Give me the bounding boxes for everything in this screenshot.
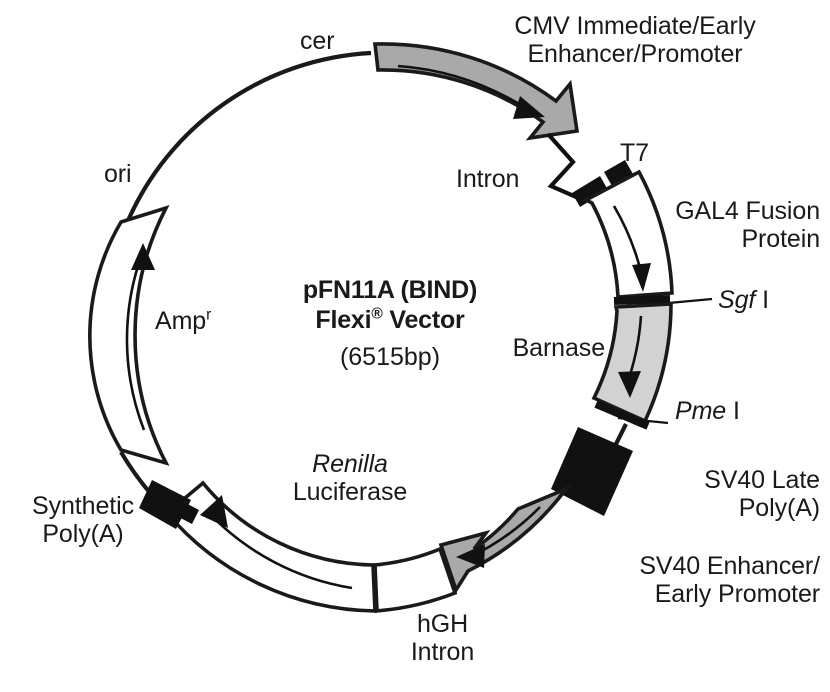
label-cmv-line1: CMV Immediate/Early	[514, 12, 755, 40]
label-sv40-late-polya: SV40 LatePoly(A)	[620, 466, 820, 522]
vector-title-line1: pFN11A (BIND)	[303, 276, 477, 304]
registered-mark-icon: ®	[371, 306, 382, 323]
label-gal4-line1: GAL4 Fusion	[675, 197, 820, 225]
plasmid-map-canvas: CMV Immediate/EarlyEnhancer/Promoter cer…	[0, 0, 830, 692]
label-amp-base: Amp	[155, 307, 206, 335]
label-pmei-roman: I	[726, 397, 740, 425]
label-ori: ori	[104, 160, 131, 188]
label-sv40enh-line1: SV40 Enhancer/	[639, 552, 820, 580]
label-amp-superscript: r	[206, 307, 211, 324]
label-renilla-line2: Luciferase	[293, 478, 407, 506]
label-cer: cer	[300, 27, 334, 55]
label-gal4-line2: Protein	[741, 225, 820, 253]
vector-title: pFN11A (BIND)Flexi® Vector	[235, 275, 545, 335]
label-renilla-line1: Renilla	[312, 450, 388, 478]
vector-size-label: (6515bp)	[235, 343, 545, 372]
vector-title-line2-pre: Flexi	[315, 306, 371, 334]
feature-barnase	[594, 304, 671, 421]
backbone-arc-ori-cer	[127, 53, 371, 223]
label-sgfi-italic: Sgf	[718, 286, 755, 314]
feature-sv40-enhancer-promoter	[441, 489, 566, 590]
label-intron: Intron	[456, 165, 519, 193]
label-synth-line1: Synthetic	[32, 492, 134, 520]
sgfi-tick	[614, 299, 670, 301]
label-gal4-fusion-protein: GAL4 FusionProtein	[590, 197, 820, 253]
label-hgh-line1: hGH	[417, 610, 468, 638]
label-synthetic-polya: SyntheticPoly(A)	[8, 492, 158, 548]
label-renilla-luciferase: RenillaLuciferase	[250, 450, 450, 506]
label-sgfi-roman: I	[755, 286, 769, 314]
label-sgfi-site: Sgf I	[718, 286, 769, 314]
label-cmv-line2: Enhancer/Promoter	[527, 40, 742, 68]
label-hgh-line2: Intron	[411, 638, 474, 666]
label-sv40late-line1: SV40 Late	[704, 466, 820, 494]
label-t7: T7	[620, 139, 649, 167]
vector-title-line2-post: Vector	[383, 306, 465, 334]
label-cmv-promoter: CMV Immediate/EarlyEnhancer/Promoter	[470, 12, 800, 68]
label-sv40enh-line2: Early Promoter	[655, 580, 820, 608]
label-sv40late-line2: Poly(A)	[739, 494, 820, 522]
label-synth-line2: Poly(A)	[42, 520, 123, 548]
feature-hgh-intron	[374, 549, 455, 611]
label-sv40-enhancer-promoter: SV40 Enhancer/Early Promoter	[560, 552, 820, 608]
feature-amp-resistance	[90, 208, 166, 463]
label-pmei-italic: Pme	[675, 397, 726, 425]
label-amp-resistance: Ampr	[155, 307, 211, 335]
label-hgh-intron: hGHIntron	[375, 610, 510, 666]
label-pmei-site: Pme I	[675, 397, 740, 425]
